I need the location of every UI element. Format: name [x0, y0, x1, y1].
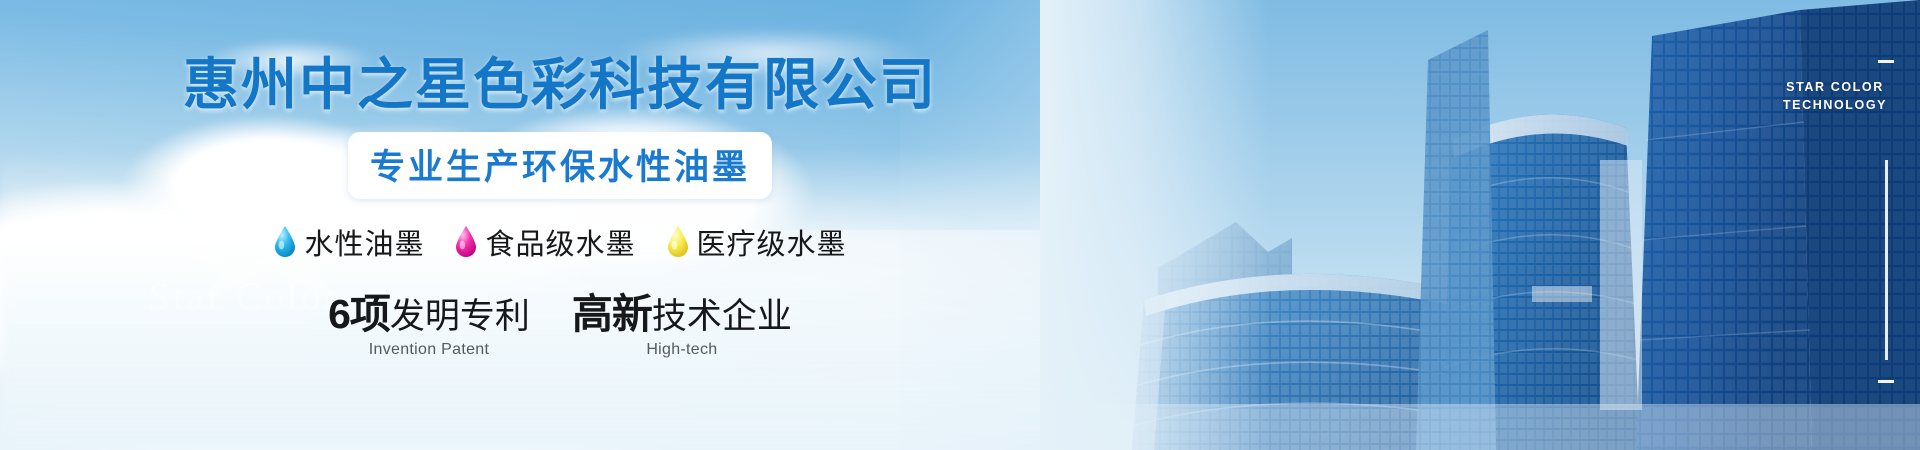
feature-label: 水性油墨: [304, 221, 424, 263]
corner-brand-line1: STAR COLOR: [1765, 78, 1905, 96]
water-drop-icon: [273, 225, 297, 258]
corner-rule-vertical: [1885, 160, 1888, 360]
badge-strong-text: 6项: [328, 291, 390, 337]
water-drop-icon: [454, 225, 478, 258]
skyscraper-illustration: [1040, 0, 1920, 450]
badge-title: 6项发明专利: [328, 293, 530, 336]
corner-brand-mark: STAR COLOR TECHNOLOGY: [1765, 78, 1905, 114]
badge-high-tech: 高新技术企业 High-tech: [572, 293, 792, 359]
corner-rule-top: [1878, 60, 1894, 63]
feature-label: 食品级水墨: [485, 221, 635, 263]
feature-label: 医疗级水墨: [697, 221, 847, 263]
subtitle-pill: 专业生产环保水性油墨: [348, 132, 772, 199]
corner-rule-bottom: [1878, 380, 1894, 383]
badge-title: 高新技术企业: [572, 293, 792, 336]
feature-item-medical-grade: 医疗级水墨: [666, 221, 847, 263]
badge-strong-text: 高新: [572, 291, 652, 337]
badge-invention-patent: 6项发明专利 Invention Patent: [328, 293, 530, 359]
company-name-headline: 惠州中之星色彩科技有限公司: [183, 56, 937, 115]
feature-list: 水性油墨 食品级水墨: [273, 221, 846, 263]
feature-item-water-ink: 水性油墨: [273, 221, 424, 263]
badge-subtitle: Invention Patent: [328, 341, 530, 359]
promo-banner: Star Color: [0, 0, 1920, 450]
water-drop-icon: [666, 225, 690, 258]
banner-content: 惠州中之星色彩科技有限公司 专业生产环保水性油墨 水性油墨: [0, 0, 1120, 450]
corner-brand-line2: TECHNOLOGY: [1765, 96, 1905, 114]
spire-tower: [1416, 30, 1496, 450]
badge-thin-text: 发明专利: [390, 297, 530, 336]
credentials-row: 6项发明专利 Invention Patent 高新技术企业 High-tech: [328, 293, 792, 359]
badge-subtitle: High-tech: [572, 341, 792, 359]
feature-item-food-grade: 食品级水墨: [454, 221, 635, 263]
badge-thin-text: 技术企业: [652, 297, 792, 336]
subtitle-text: 专业生产环保水性油墨: [370, 148, 750, 187]
